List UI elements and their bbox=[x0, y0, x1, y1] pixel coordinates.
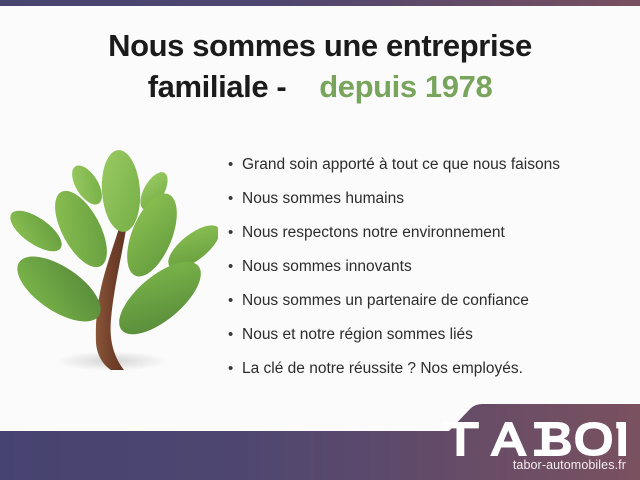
bullet-marker-icon: • bbox=[228, 148, 242, 182]
bullet-marker-icon: • bbox=[228, 352, 242, 386]
list-item-label: Nous et notre région sommes liés bbox=[242, 318, 473, 352]
list-item: • Nous et notre région sommes liés bbox=[228, 318, 628, 352]
list-item: • Grand soin apporté à tout ce que nous … bbox=[228, 148, 628, 182]
list-item: • Nous respectons notre environnement bbox=[228, 216, 628, 250]
benefits-list: • Grand soin apporté à tout ce que nous … bbox=[228, 148, 628, 386]
list-item-label: Nous sommes innovants bbox=[242, 250, 412, 284]
list-item: • Nous sommes innovants bbox=[228, 250, 628, 284]
tree-leaf bbox=[108, 249, 213, 347]
list-item: • Nous sommes humains bbox=[228, 182, 628, 216]
bullet-marker-icon: • bbox=[228, 318, 242, 352]
tree-illustration bbox=[8, 143, 218, 391]
tabor-wordmark-icon[interactable] bbox=[442, 422, 626, 456]
list-item: • La clé de notre réussite ? Nos employé… bbox=[228, 352, 628, 386]
headline-line-1: Nous sommes une entreprise bbox=[0, 26, 640, 67]
brand-logo[interactable]: tabor-automobiles.fr bbox=[426, 422, 626, 472]
bullet-marker-icon: • bbox=[228, 284, 242, 318]
tree-leaf bbox=[99, 149, 143, 233]
bullet-marker-icon: • bbox=[228, 216, 242, 250]
headline-plain-part: familiale - bbox=[148, 69, 287, 104]
slide-canvas: Nous sommes une entreprise familiale - d… bbox=[0, 0, 640, 480]
headline-accent-part: depuis 1978 bbox=[319, 69, 492, 104]
list-item-label: Nous respectons notre environnement bbox=[242, 216, 505, 250]
bullet-marker-icon: • bbox=[228, 182, 242, 216]
headline-line-2: familiale - depuis 1978 bbox=[0, 67, 640, 108]
top-accent-bar bbox=[0, 0, 640, 6]
list-item-label: Nous sommes humains bbox=[242, 182, 404, 216]
list-item: • Nous sommes un partenaire de confiance bbox=[228, 284, 628, 318]
list-item-label: La clé de notre réussite ? Nos employés. bbox=[242, 352, 523, 386]
bullet-marker-icon: • bbox=[228, 250, 242, 284]
list-item-label: Nous sommes un partenaire de confiance bbox=[242, 284, 529, 318]
list-item-label: Grand soin apporté à tout ce que nous fa… bbox=[242, 148, 560, 182]
brand-tagline[interactable]: tabor-automobiles.fr bbox=[426, 458, 626, 472]
page-title: Nous sommes une entreprise familiale - d… bbox=[0, 26, 640, 108]
